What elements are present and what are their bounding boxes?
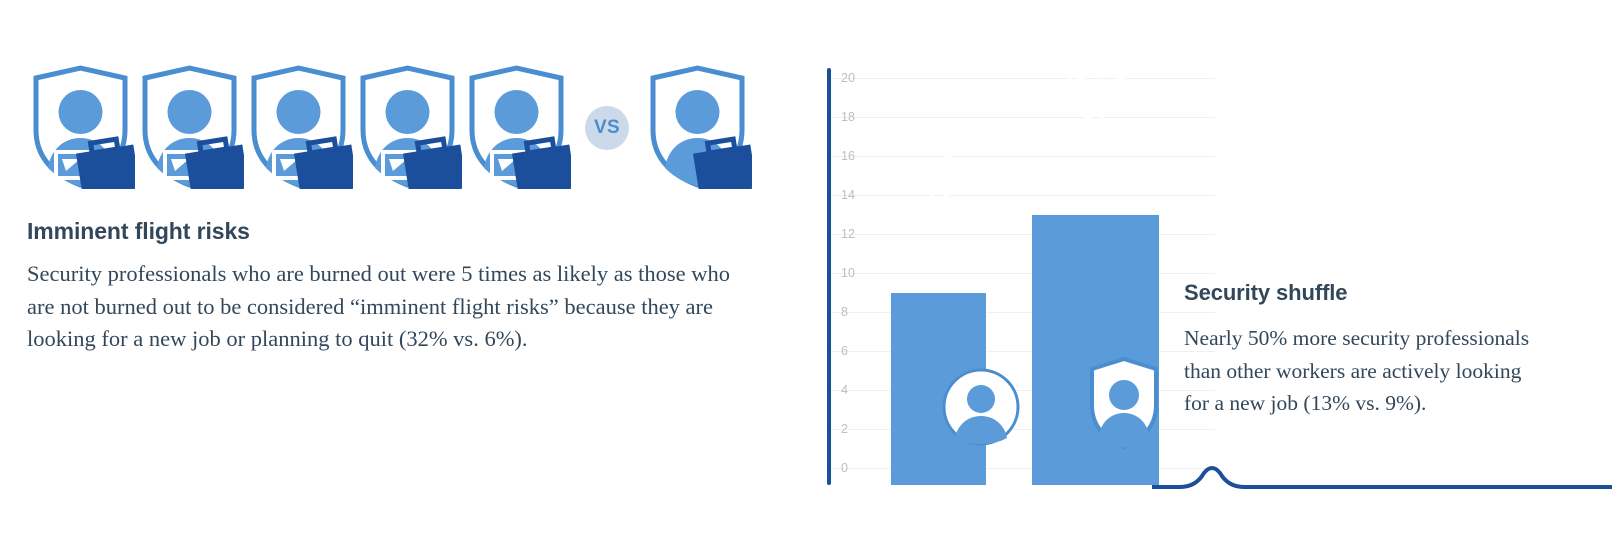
bar-value-number: 13 — [1032, 61, 1159, 116]
right-body-text: Nearly 50% more security professionals t… — [1184, 322, 1544, 420]
vs-badge: VS — [585, 106, 629, 150]
bar-value-unit: % — [1032, 112, 1159, 142]
shield-person-icon — [1086, 356, 1162, 450]
shield-person-briefcase-icon — [26, 64, 135, 189]
right-headline: Security shuffle — [1184, 280, 1347, 306]
chart-panel: 20 18 16 14 12 10 8 6 4 2 0 9 % — [800, 0, 1612, 554]
baseline-with-arch-notch — [1152, 462, 1612, 492]
shield-person-briefcase-icon — [643, 64, 752, 189]
vs-badge-label: VS — [594, 117, 620, 139]
bar-label-other-workers: 9 % — [891, 126, 986, 202]
person-circle-icon — [942, 368, 1020, 446]
left-body-text: Security professionals who are burned ou… — [27, 258, 762, 356]
flight-risk-icon-row: VS — [26, 64, 752, 189]
bar-label-security-professionals: 13 % — [1032, 61, 1159, 142]
shield-person-briefcase-icon — [462, 64, 571, 189]
shield-person-briefcase-icon — [135, 64, 244, 189]
bar-value-unit: % — [891, 173, 986, 202]
infographic-root: VS Imminent flight risks Security profes… — [0, 0, 1612, 554]
bars-group: 9 % 13 % — [831, 68, 1215, 485]
left-panel: VS Imminent flight risks Security profes… — [0, 0, 800, 554]
bar-chart-plot: 20 18 16 14 12 10 8 6 4 2 0 9 % — [827, 68, 1215, 485]
left-headline: Imminent flight risks — [27, 218, 250, 245]
bar-value-number: 9 — [891, 126, 986, 175]
shield-person-briefcase-icon — [244, 64, 353, 189]
shield-person-briefcase-icon — [353, 64, 462, 189]
